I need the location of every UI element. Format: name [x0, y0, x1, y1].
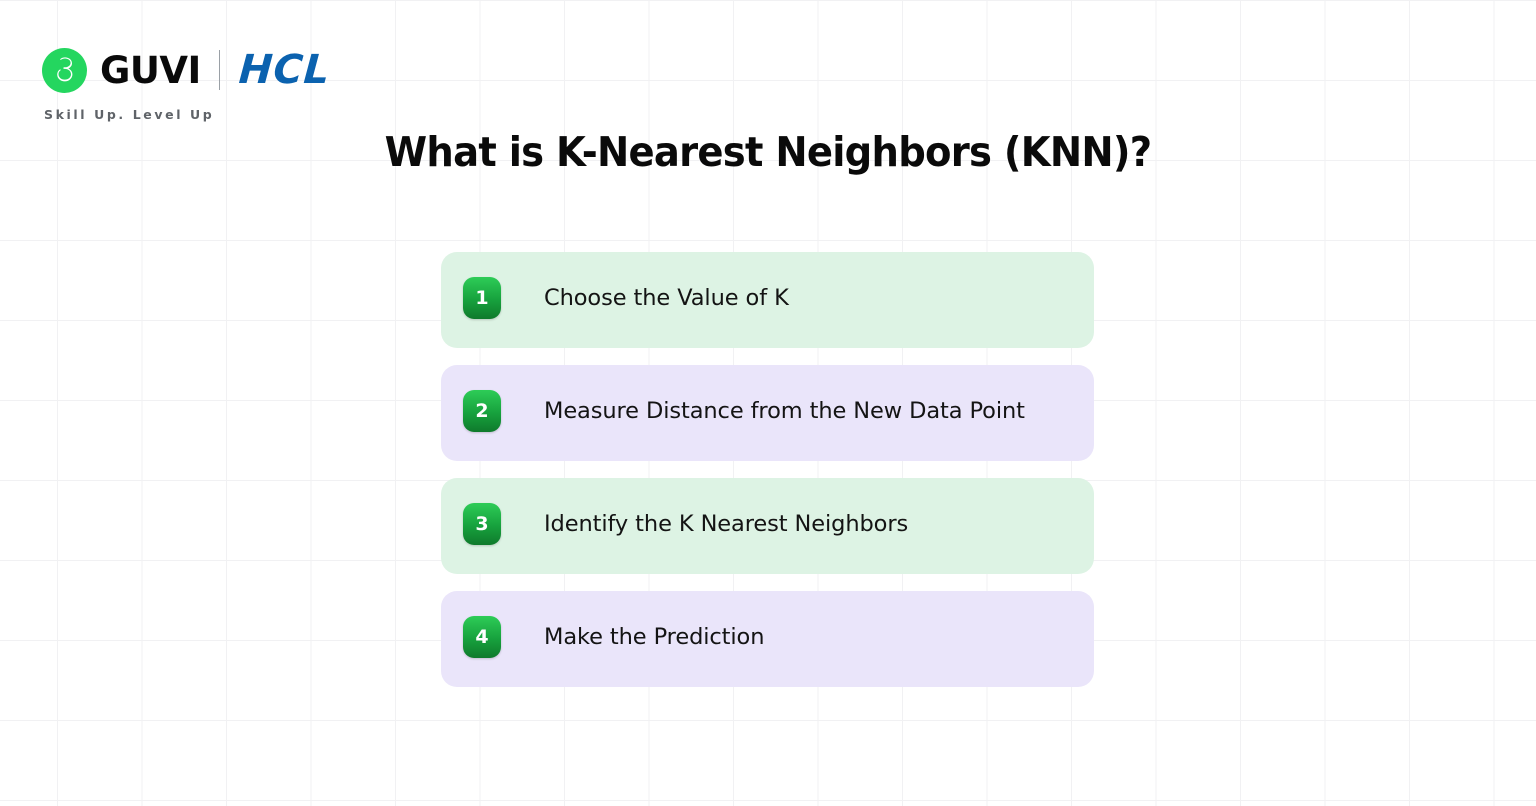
guvi-wordmark: GUVI	[100, 52, 201, 89]
step-number-badge-1: 1	[463, 277, 501, 319]
slide-canvas: GUVI HCL Skill Up. Level Up What is K-Ne…	[0, 0, 1536, 806]
step-row-3[interactable]: 3 Identify the K Nearest Neighbors	[441, 478, 1094, 574]
step-number-badge-3: 3	[463, 503, 501, 545]
guvi-g-mark-icon	[42, 48, 87, 93]
hcl-wordmark: HCL	[237, 50, 331, 90]
step-label-2: Measure Distance from the New Data Point	[544, 398, 1025, 424]
step-label-3: Identify the K Nearest Neighbors	[544, 511, 908, 537]
step-label-4: Make the Prediction	[544, 624, 764, 650]
step-number-badge-2: 2	[463, 390, 501, 432]
page-title: What is K-Nearest Neighbors (KNN)?	[46, 128, 1490, 176]
step-label-1: Choose the Value of K	[544, 285, 789, 311]
step-row-2[interactable]: 2 Measure Distance from the New Data Poi…	[441, 365, 1094, 461]
brand-logo-row: GUVI HCL	[42, 44, 330, 96]
brand-tagline: Skill Up. Level Up	[44, 107, 330, 122]
step-row-1[interactable]: 1 Choose the Value of K	[441, 252, 1094, 348]
brand-header: GUVI HCL Skill Up. Level Up	[42, 44, 330, 122]
brand-divider	[219, 50, 220, 90]
step-row-4[interactable]: 4 Make the Prediction	[441, 591, 1094, 687]
steps-list: 1 Choose the Value of K 2 Measure Distan…	[441, 252, 1094, 704]
step-number-badge-4: 4	[463, 616, 501, 658]
